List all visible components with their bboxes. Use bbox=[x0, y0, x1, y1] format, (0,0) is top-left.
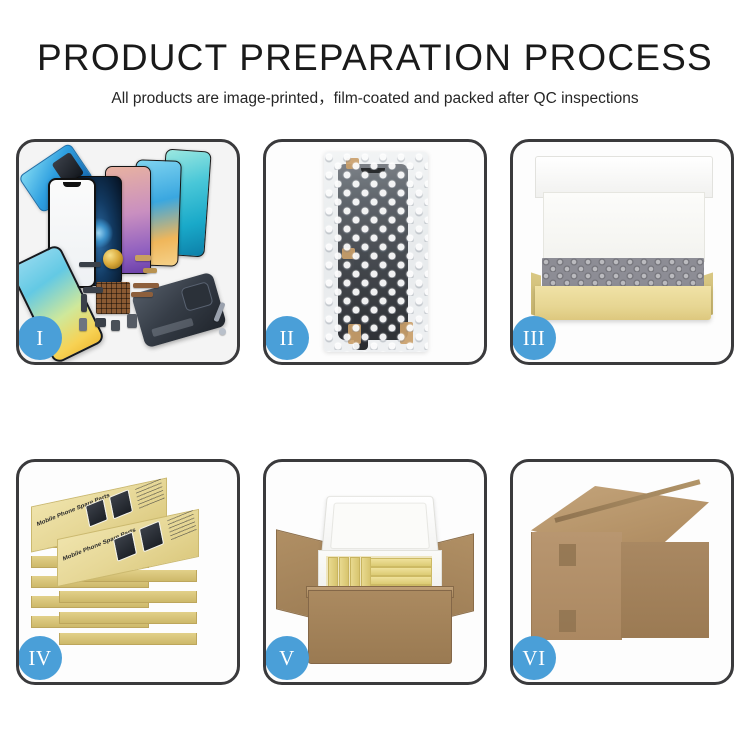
step-badge-2: II bbox=[266, 316, 309, 360]
small-part bbox=[127, 314, 137, 328]
stacked-box-edge bbox=[59, 633, 195, 646]
carton-tape-lower bbox=[559, 610, 576, 632]
step-badge-6: VI bbox=[513, 636, 556, 680]
packed-box-horizontal bbox=[370, 567, 432, 576]
bubble-texture bbox=[324, 152, 428, 352]
small-part bbox=[219, 328, 226, 335]
box-stack: Mobile Phone Spare Parts Mobile Phone Sp… bbox=[27, 484, 235, 664]
step-6-image: VI bbox=[513, 462, 731, 682]
step-badge-3: III bbox=[513, 316, 556, 360]
page-title: PRODUCT PREPARATION PROCESS bbox=[0, 36, 750, 80]
step-3-image: III bbox=[513, 142, 731, 362]
coil-component-icon bbox=[103, 249, 123, 269]
page-subtitle: All products are image-printed，film-coat… bbox=[0, 88, 750, 110]
stacked-box-edge bbox=[59, 612, 195, 625]
step-panel-4: Mobile Phone Spare Parts Mobile Phone Sp… bbox=[16, 459, 240, 685]
grey-bubble-insert bbox=[542, 258, 704, 288]
header: PRODUCT PREPARATION PROCESS All products… bbox=[0, 36, 750, 110]
small-part bbox=[83, 287, 103, 293]
small-part bbox=[81, 294, 87, 312]
step-badge-4: IV bbox=[19, 636, 62, 680]
step-2-image: II bbox=[266, 142, 484, 362]
product-preparation-infographic: PRODUCT PREPARATION PROCESS All products… bbox=[0, 0, 750, 750]
foam-sheet bbox=[543, 192, 705, 262]
step-4-image: Mobile Phone Spare Parts Mobile Phone Sp… bbox=[19, 462, 237, 682]
step-panel-2: II bbox=[263, 139, 487, 365]
step-panel-1: I bbox=[16, 139, 240, 365]
packed-box-horizontal bbox=[370, 558, 432, 567]
small-part bbox=[131, 292, 153, 297]
box-front-panel bbox=[535, 286, 711, 320]
carton-tape-upper bbox=[559, 544, 576, 566]
bubble-wrap-bag bbox=[324, 152, 428, 352]
small-part bbox=[79, 318, 87, 331]
small-part bbox=[95, 318, 106, 327]
step-badge-1: I bbox=[19, 316, 62, 360]
carton-body bbox=[308, 590, 452, 664]
small-part bbox=[143, 268, 157, 273]
step-panel-6: VI bbox=[510, 459, 734, 685]
phone-notch-icon bbox=[63, 182, 81, 187]
stacked-box-edge bbox=[59, 591, 195, 604]
small-part bbox=[111, 320, 120, 331]
small-part bbox=[135, 255, 151, 261]
carton-side-face bbox=[621, 542, 709, 638]
packed-box-horizontal bbox=[370, 576, 432, 585]
process-steps-grid: I II bbox=[16, 139, 734, 685]
step-panel-5: V bbox=[263, 459, 487, 685]
step-5-image: V bbox=[266, 462, 484, 682]
step-badge-5: V bbox=[266, 636, 309, 680]
foam-lid bbox=[321, 496, 439, 557]
small-part bbox=[133, 283, 159, 288]
step-1-image: I bbox=[19, 142, 237, 362]
carton-front-face bbox=[531, 532, 622, 640]
step-panel-3: III bbox=[510, 139, 734, 365]
small-part bbox=[79, 262, 101, 267]
